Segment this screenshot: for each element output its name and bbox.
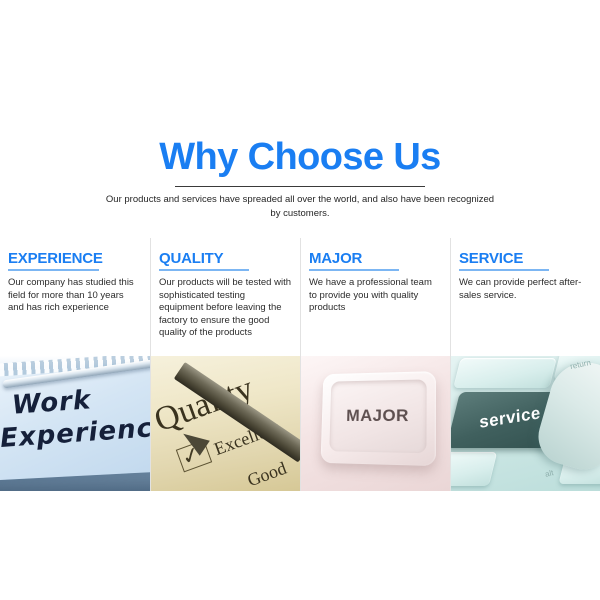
- service-keyboard-photo: service return alt: [451, 356, 600, 491]
- feature-text-quality: QUALITY Our products will be tested with…: [151, 238, 300, 340]
- heading-underline-quality: [159, 269, 249, 271]
- page-title: Why Choose Us: [0, 0, 600, 178]
- feature-body-major: We have a professional team to provide y…: [309, 277, 442, 315]
- feature-text-major: MAJOR We have a professional team to pro…: [301, 238, 450, 315]
- feature-heading-service: SERVICE: [459, 250, 523, 267]
- feature-column-service: SERVICE We can provide perfect after-sal…: [450, 238, 600, 491]
- keycap-label-major: MAJOR: [346, 406, 409, 426]
- feature-heading-experience: EXPERIENCE: [8, 250, 103, 267]
- keyboard-key-return: [453, 358, 556, 388]
- checklist-option-good: Good: [245, 458, 290, 491]
- feature-body-service: We can provide perfect after-sales servi…: [459, 277, 592, 302]
- page-header: Why Choose Us Our products and services …: [0, 0, 600, 221]
- heading-underline-service: [459, 269, 549, 271]
- keyboard-label-alt: alt: [544, 468, 554, 479]
- feature-heading-quality: QUALITY: [159, 250, 223, 267]
- feature-text-service: SERVICE We can provide perfect after-sal…: [451, 238, 600, 302]
- quality-checklist-photo: Quality Excellent Good ✓: [151, 356, 300, 491]
- feature-text-experience: EXPERIENCE Our company has studied this …: [0, 238, 150, 315]
- feature-heading-major: MAJOR: [309, 250, 362, 267]
- feature-columns: EXPERIENCE Our company has studied this …: [0, 238, 600, 491]
- feature-column-major: MAJOR We have a professional team to pro…: [300, 238, 450, 491]
- feature-column-experience: EXPERIENCE Our company has studied this …: [0, 238, 150, 491]
- title-divider: [175, 186, 425, 187]
- keycap-outer-shape: MAJOR: [321, 371, 436, 466]
- heading-underline-major: [309, 269, 399, 271]
- handwriting-line-1: Work: [11, 385, 92, 420]
- feature-column-quality: QUALITY Our products will be tested with…: [150, 238, 300, 491]
- keycap-inner-shape: MAJOR: [329, 379, 426, 453]
- keyboard-key-bottom-left: [451, 452, 497, 486]
- page-subtitle: Our products and services have spreaded …: [100, 193, 500, 221]
- work-experience-notepad-photo: Work Experience: [0, 356, 150, 491]
- why-choose-us-page: Why Choose Us Our products and services …: [0, 0, 600, 600]
- feature-body-experience: Our company has studied this field for m…: [8, 277, 142, 315]
- feature-body-quality: Our products will be tested with sophist…: [159, 277, 292, 340]
- major-keycap-photo: MAJOR: [301, 356, 450, 491]
- heading-underline-experience: [8, 269, 99, 271]
